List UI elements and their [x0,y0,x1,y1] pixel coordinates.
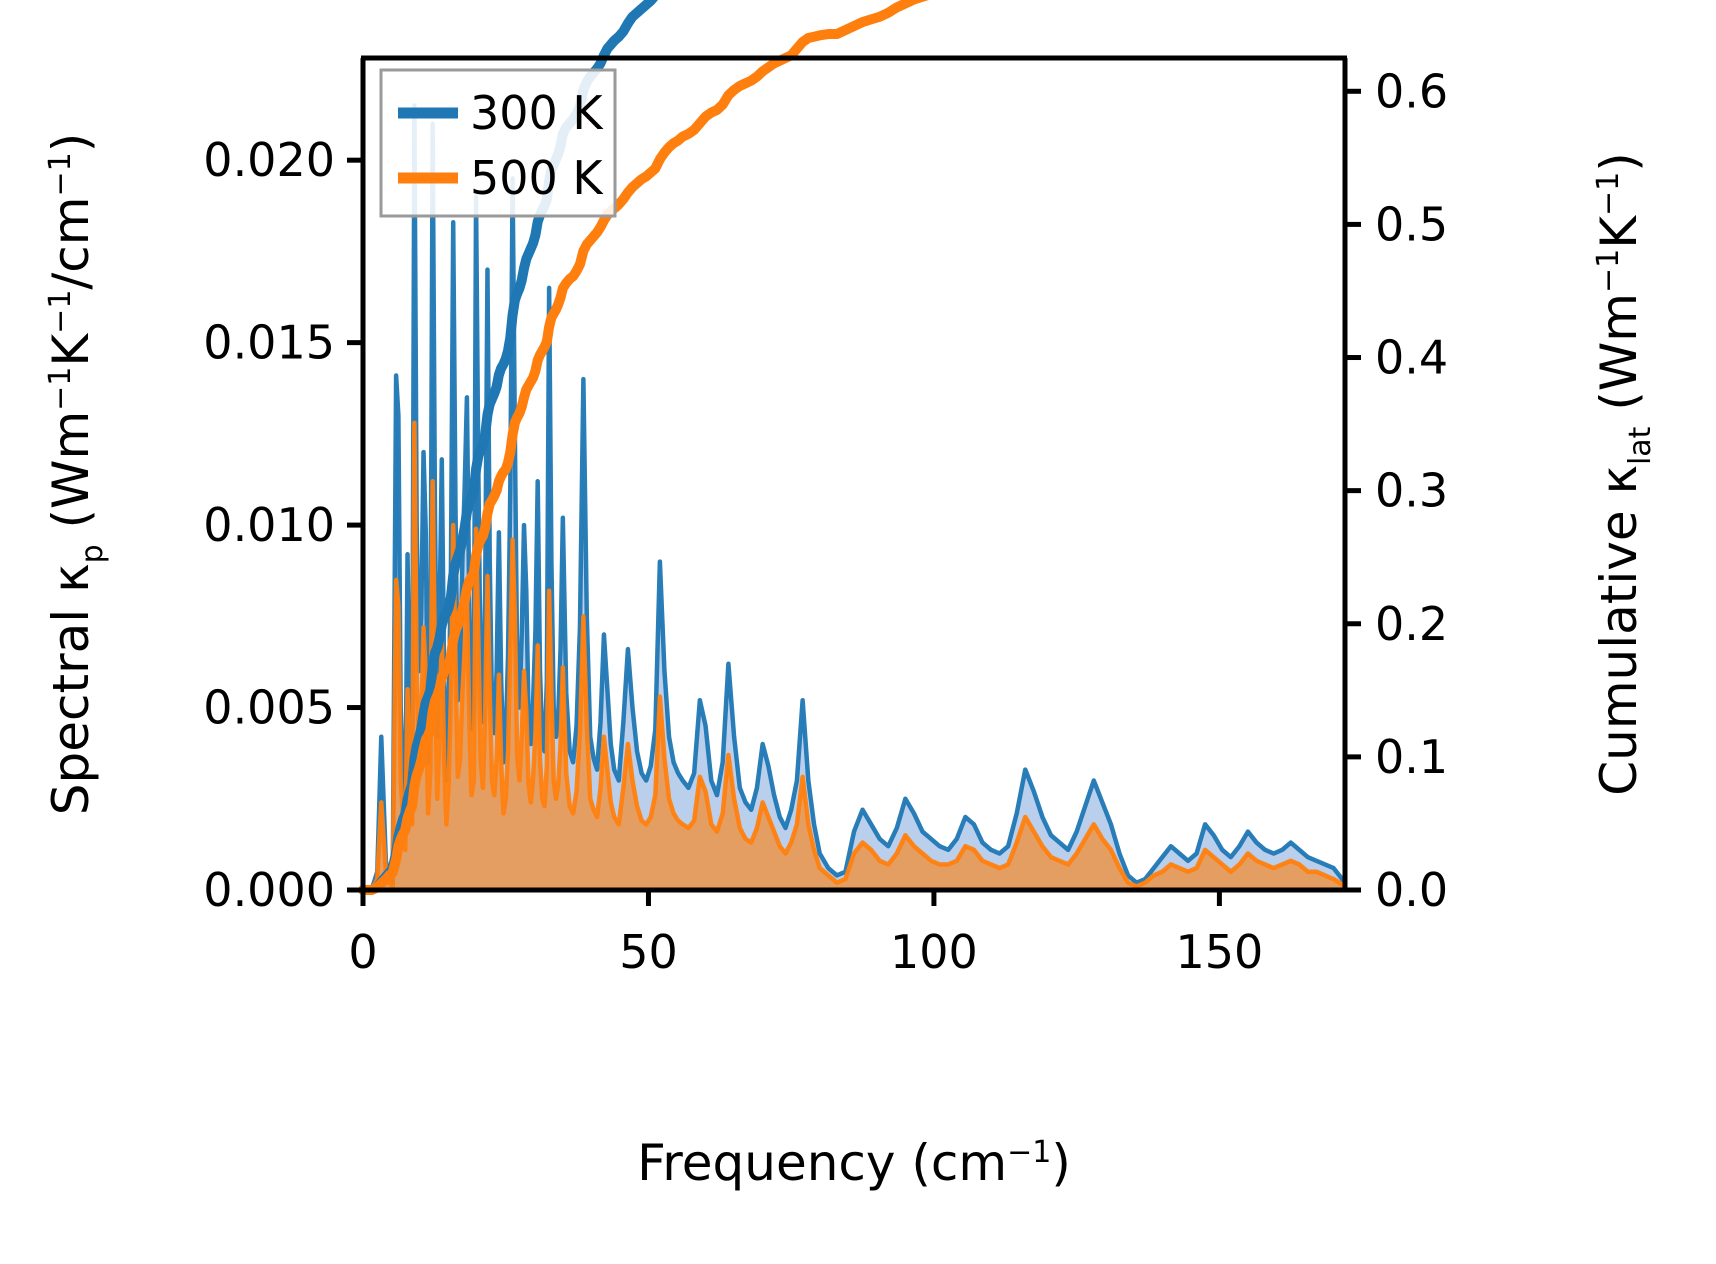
x-tick-label: 150 [1175,925,1263,979]
left-y-axis-title: Spectral κp (Wm−1K−1/cm−1) [42,133,110,815]
legend[interactable]: 300 K 500 K [381,70,615,216]
figure-canvas: 0501001500.0000.0050.0100.0150.0200.00.1… [0,0,1716,1264]
y-tick-label-left: 0.010 [203,498,335,552]
x-tick-label: 0 [348,925,377,979]
x-tick-label: 100 [890,925,978,979]
spectral-thermal-conductivity-chart: 0501001500.0000.0050.0100.0150.0200.00.1… [0,0,1716,1264]
x-tick-label: 50 [619,925,678,979]
y-tick-label-left: 0.000 [203,863,335,917]
y-tick-label-right: 0.5 [1375,197,1448,251]
right-y-axis-title: Cumulative κlat (Wm−1K−1) [1590,152,1658,796]
y-tick-label-right: 0.4 [1375,331,1448,385]
y-tick-label-left: 0.015 [203,316,335,370]
y-tick-label-right: 0.3 [1375,464,1448,518]
legend-label-500k: 500 K [470,151,604,205]
y-tick-label-left: 0.005 [203,681,335,735]
x-axis-title: Frequency (cm−1) [637,1134,1071,1192]
y-tick-label-right: 0.0 [1375,863,1448,917]
y-tick-label-left: 0.020 [203,133,335,187]
legend-label-300k: 300 K [470,86,604,140]
y-tick-label-right: 0.2 [1375,597,1448,651]
y-tick-label-right: 0.6 [1375,64,1448,118]
y-tick-label-right: 0.1 [1375,730,1448,784]
